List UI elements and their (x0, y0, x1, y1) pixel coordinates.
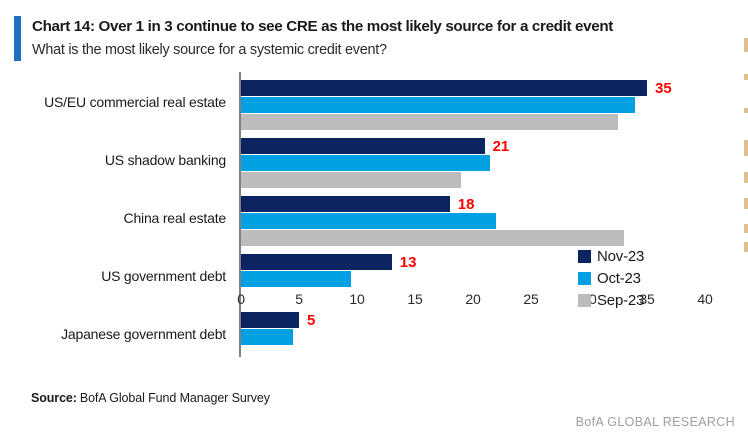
x-axis-tick-label: 20 (465, 291, 480, 307)
x-axis-tick-label: 40 (697, 291, 712, 307)
legend-item-nov-23[interactable]: Nov-23 (578, 245, 698, 267)
bar-sep-23-1 (241, 172, 461, 188)
category-label: US/EU commercial real estate (0, 94, 226, 110)
bar-value-label: 5 (307, 313, 315, 329)
legend-label: Nov-23 (597, 248, 644, 265)
plot-area: US/EU commercial real estateUS shadow ba… (0, 72, 720, 372)
x-axis-tick-label: 10 (349, 291, 364, 307)
bar-nov-23-1 (241, 138, 485, 154)
edge-artifact (744, 108, 748, 113)
x-axis-tick-label: 15 (407, 291, 422, 307)
category-label: US government debt (0, 268, 226, 284)
branding-text: BofA GLOBAL RESEARCH (576, 415, 735, 429)
bar-value-label: 35 (655, 81, 672, 97)
clipped-edge-artifacts (738, 0, 748, 260)
edge-artifact (744, 224, 748, 233)
category-label: US shadow banking (0, 152, 226, 168)
x-axis-tick-label: 5 (295, 291, 303, 307)
legend-swatch-icon (578, 250, 591, 263)
source-line: Source:BofA Global Fund Manager Survey (31, 391, 270, 405)
chart-page: Chart 14: Over 1 in 3 continue to see CR… (0, 0, 748, 445)
bar-value-label: 18 (458, 197, 475, 213)
bar-oct-23-4 (241, 329, 293, 345)
edge-artifact (744, 74, 748, 80)
legend-item-sep-23[interactable]: Sep-23 (578, 289, 698, 311)
bar-nov-23-4 (241, 312, 299, 328)
bar-oct-23-1 (241, 155, 490, 171)
legend-swatch-icon (578, 294, 591, 307)
bar-value-label: 21 (493, 139, 510, 155)
chart-subtitle: What is the most likely source for a sys… (32, 40, 714, 61)
edge-artifact (744, 38, 748, 52)
edge-artifact (744, 198, 748, 209)
edge-artifact (744, 242, 748, 252)
bar-oct-23-0 (241, 97, 635, 113)
source-text: BofA Global Fund Manager Survey (80, 391, 270, 405)
x-axis-tick-label: 0 (237, 291, 245, 307)
bar-nov-23-3 (241, 254, 392, 270)
edge-artifact (744, 140, 748, 156)
bars-layer: 352118135 (241, 72, 711, 357)
title-block: Chart 14: Over 1 in 3 continue to see CR… (32, 16, 714, 61)
chart-header: Chart 14: Over 1 in 3 continue to see CR… (14, 16, 714, 61)
page-title: Chart 14: Over 1 in 3 continue to see CR… (32, 17, 714, 37)
category-axis-labels: US/EU commercial real estateUS shadow ba… (0, 72, 232, 357)
legend-label: Sep-23 (597, 292, 644, 309)
bar-nov-23-2 (241, 196, 450, 212)
category-label: Japanese government debt (0, 326, 226, 342)
legend-item-oct-23[interactable]: Oct-23 (578, 267, 698, 289)
bar-oct-23-2 (241, 213, 496, 229)
bar-sep-23-0 (241, 114, 618, 130)
title-accent-bar (14, 16, 21, 61)
bar-sep-23-2 (241, 230, 624, 246)
category-label: China real estate (0, 210, 226, 226)
x-axis-tick-label: 25 (523, 291, 538, 307)
bar-value-label: 13 (400, 255, 417, 271)
bar-nov-23-0 (241, 80, 647, 96)
legend-label: Oct-23 (597, 270, 641, 287)
legend-swatch-icon (578, 272, 591, 285)
edge-artifact (744, 172, 748, 183)
source-label: Source: (31, 391, 77, 405)
chart-legend: Nov-23Oct-23Sep-23 (578, 245, 698, 311)
